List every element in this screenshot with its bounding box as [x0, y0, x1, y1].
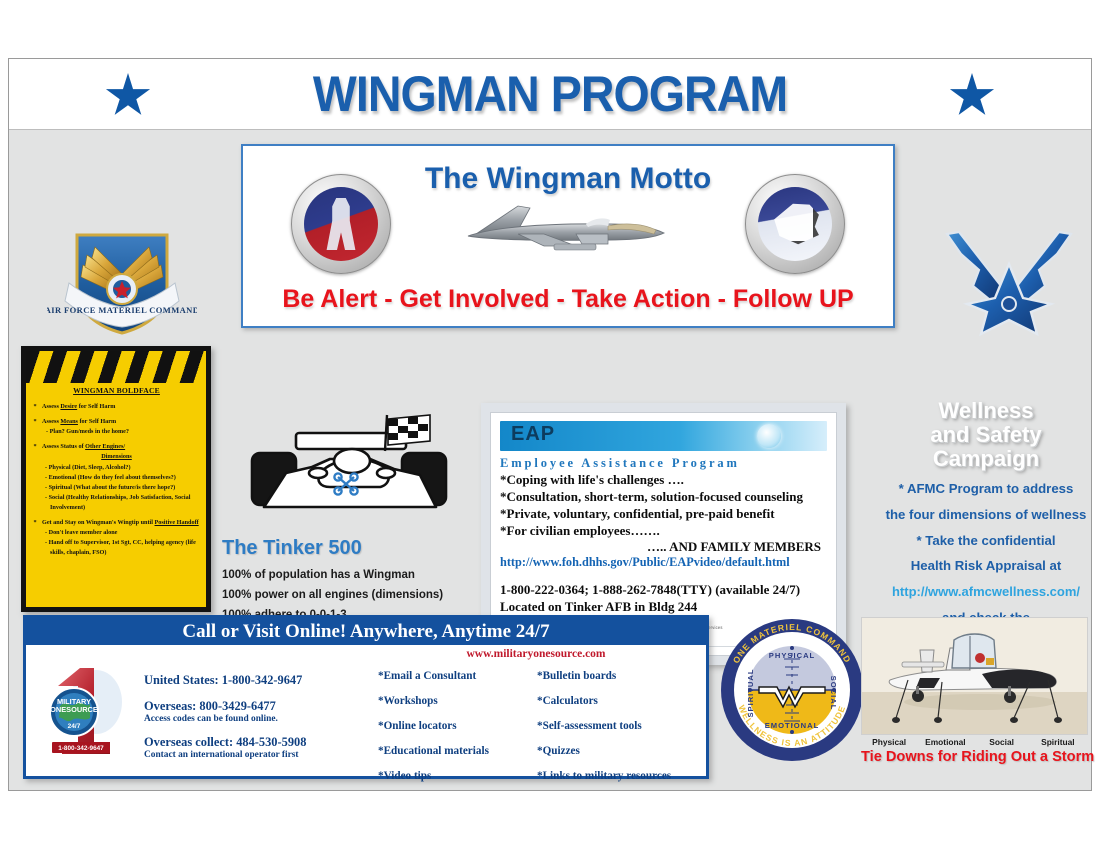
- boldface-subitem: - Social (Healthy Relationships, Job Sat…: [50, 493, 201, 513]
- bullet-icon: *: [32, 518, 38, 528]
- onesource-services: *Email a Consultant *Workshops *Online l…: [378, 664, 696, 789]
- wellness-heading-line: Campaign: [933, 446, 1039, 471]
- boldface-subitem: - Emotional (How do they feel about them…: [50, 473, 201, 483]
- race-car-icon: [234, 411, 464, 526]
- boldface-lead: Assess Status of: [42, 443, 85, 450]
- contact-primary: United States: 1-800-342-9647: [144, 673, 354, 688]
- wheel-label-left: SPIRITUAL: [746, 668, 755, 717]
- tinker-afb-seal-icon: [291, 174, 391, 274]
- boldface-keyword: Positive Handoff: [155, 519, 199, 526]
- boldface-heading: WINGMAN BOLDFACE: [32, 385, 201, 397]
- services-column-1: *Email a Consultant *Workshops *Online l…: [378, 664, 537, 789]
- tie-down-labels: Physical Emotional Social Spiritual: [861, 737, 1086, 747]
- hazard-stripes-icon: [26, 351, 206, 383]
- boldface-lead: Get and Stay on Wingman's Wingtip until: [42, 519, 155, 526]
- afmc-wellness-link[interactable]: http://www.afmcwellness.com/: [892, 584, 1080, 599]
- eap-title: Employee Assistance Program: [500, 456, 827, 471]
- boldface-keyword: Desire: [60, 403, 77, 410]
- boldface-tail: for Self Harm: [77, 403, 115, 410]
- svg-text:1-800-342-9647: 1-800-342-9647: [58, 745, 104, 752]
- svg-text:AIR FORCE MATERIEL COMMAND: AIR FORCE MATERIEL COMMAND: [47, 305, 197, 315]
- service-item[interactable]: *Quizzes: [537, 739, 696, 764]
- tied-down-aircraft-photo: [861, 617, 1088, 735]
- boldface-subitem: - Physical (Diet, Sleep, Alcohol?): [50, 463, 201, 473]
- eap-bullet: *Coping with life's challenges ….: [500, 471, 827, 488]
- boldface-item: * Assess Desire for Self Harm: [32, 402, 201, 412]
- contact-note: Contact an international operator first: [144, 750, 354, 760]
- boldface-subitem: - Hand off to Supervisor, 1st Sgt, CC, h…: [50, 538, 201, 558]
- bullet-icon: *: [32, 442, 38, 452]
- eap-bullet: *For civilian employees…….: [500, 522, 827, 539]
- service-item[interactable]: *Workshops: [378, 689, 537, 714]
- boldface-item: * Get and Stay on Wingman's Wingtip unti…: [32, 518, 201, 528]
- tinker-500-line: 100% of population has a Wingman: [222, 566, 472, 586]
- contact-note: Access codes can be found online.: [144, 714, 354, 724]
- eap-video-link[interactable]: http://www.foh.dhhs.gov/Public/EAPvideo/…: [500, 555, 827, 570]
- afmc-shield-emblem: AIR FORCE MATERIEL COMMAND: [47, 221, 197, 341]
- svg-text:24/7: 24/7: [68, 723, 81, 730]
- eap-bullet: *Private, voluntary, confidential, pre-p…: [500, 505, 827, 522]
- wellness-line: * AFMC Program to address: [899, 481, 1074, 496]
- service-item[interactable]: *Self-assessment tools: [537, 714, 696, 739]
- service-item[interactable]: *Bulletin boards: [537, 664, 696, 689]
- onesource-website-link[interactable]: www.militaryonesource.com: [366, 648, 706, 660]
- service-item[interactable]: *Educational materials: [378, 739, 537, 764]
- military-onesource-logo: MILITARY ONESOURCE 24/7 1-800-342-9647: [40, 660, 126, 760]
- wellness-line: Health Risk Appraisal at: [911, 558, 1061, 573]
- usaf-wings-emblem: [939, 224, 1079, 342]
- eap-logo-label: EAP: [511, 423, 555, 446]
- contact-primary: Overseas: 800-3429-6477: [144, 699, 354, 714]
- poster-canvas: WINGMAN PROGRAM: [8, 58, 1092, 791]
- tie-down-label: Emotional: [917, 737, 973, 747]
- wheel-label-right: SOCIAL: [829, 676, 838, 711]
- service-item[interactable]: *Links to military resources: [537, 764, 696, 789]
- military-onesource-panel: Call or Visit Online! Anywhere, Anytime …: [23, 615, 709, 779]
- wellness-heading-line: Wellness: [939, 398, 1034, 423]
- tinker-500-line: 100% power on all engines (dimensions): [222, 586, 472, 606]
- f16-jet-icon: [458, 190, 678, 262]
- wellness-line: the four dimensions of wellness: [886, 507, 1087, 522]
- service-item[interactable]: *Online locators: [378, 714, 537, 739]
- eap-logo-banner: EAP: [500, 421, 827, 451]
- boldface-keyword: Means: [60, 418, 78, 425]
- service-item[interactable]: *Calculators: [537, 689, 696, 714]
- tie-down-label: Physical: [861, 737, 917, 747]
- onesource-contacts: United States: 1-800-342-9647 Overseas: …: [144, 662, 354, 760]
- boldface-item: * Assess Status of Other Engines/: [32, 442, 201, 452]
- boldface-lead: Assess: [42, 418, 60, 425]
- motto-tagline: Be Alert - Get Involved - Take Action - …: [243, 285, 893, 314]
- onesource-header: Call or Visit Online! Anywhere, Anytime …: [26, 618, 706, 645]
- wingman-motto-panel: The Wingman Motto Be Alert - Get Involve…: [241, 144, 895, 328]
- poster-title-bar: WINGMAN PROGRAM: [9, 59, 1091, 130]
- boldface-item: * Assess Means for Self Harm: [32, 417, 201, 427]
- tie-down-label: Spiritual: [1030, 737, 1086, 747]
- bullet-icon: *: [32, 402, 38, 412]
- eap-location: Located on Tinker AFB in Bldg 244: [500, 598, 827, 615]
- tie-down-label: Social: [974, 737, 1030, 747]
- service-item[interactable]: *Video tips: [378, 764, 537, 789]
- svg-text:ONESOURCE: ONESOURCE: [50, 705, 98, 714]
- page-title: WINGMAN PROGRAM: [47, 65, 1053, 123]
- boldface-lead: Assess: [42, 403, 60, 410]
- wingman-boldface-card: WINGMAN BOLDFACE * Assess Desire for Sel…: [21, 346, 211, 612]
- boldface-subitem: - Spiritual (What about the future/is th…: [50, 483, 201, 493]
- services-column-2: *Bulletin boards *Calculators *Self-asse…: [537, 664, 696, 789]
- eap-phone-numbers: 1-800-222-0364; 1-888-262-7848(TTY) (ava…: [500, 581, 827, 598]
- tinker-500-heading: The Tinker 500: [222, 537, 472, 560]
- tie-downs-block: Physical Emotional Social Spiritual Tie …: [861, 617, 1095, 765]
- wellness-heading-line: and Safety: [930, 422, 1041, 447]
- service-item[interactable]: *Email a Consultant: [378, 664, 537, 689]
- wheel-label-top: PHYSICAL: [769, 651, 815, 660]
- boldface-subitem: - Plan? Gun/meds in the home?: [46, 427, 201, 437]
- tie-downs-caption: Tie Downs for Riding Out a Storm: [861, 749, 1095, 765]
- eap-bullet: *Consultation, short-term, solution-focu…: [500, 488, 827, 505]
- wheel-label-bottom: EMOTIONAL: [765, 721, 820, 730]
- boldface-subitem: - Don't leave member alone: [50, 528, 201, 538]
- eap-globe-icon: [757, 424, 781, 448]
- boldface-subheading: Dimensions: [32, 452, 201, 462]
- bullet-icon: *: [32, 417, 38, 427]
- contact-primary: Overseas collect: 484-530-5908: [144, 735, 354, 750]
- wingman-eagle-seal-icon: [745, 174, 845, 274]
- boldface-keyword: Other Engines/: [85, 443, 125, 450]
- eap-family-note: ….. AND FAMILY MEMBERS: [500, 539, 827, 555]
- boldface-tail: for Self Harm: [78, 418, 116, 425]
- wellness-wheel-logo: ONE MATERIEL COMMAND WELLNESS IS AN ATTI…: [719, 617, 865, 763]
- wellness-line: * Take the confidential: [917, 533, 1056, 548]
